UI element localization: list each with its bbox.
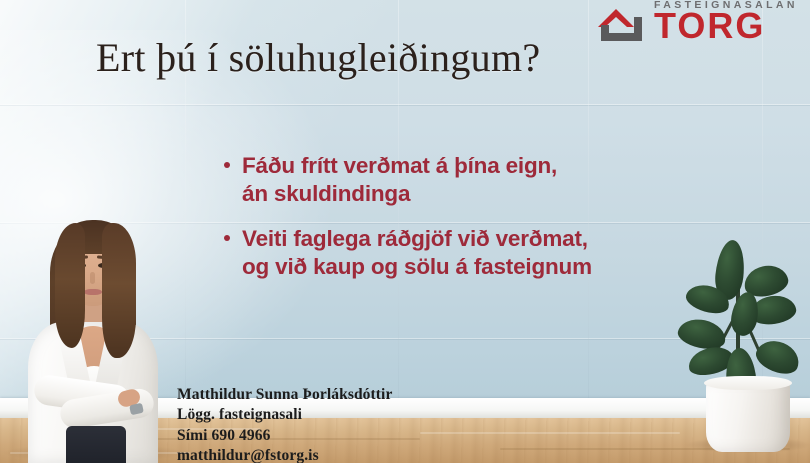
agent-email[interactable]: matthildur@fstorg.is xyxy=(177,446,392,463)
house-roof-icon xyxy=(594,5,652,45)
lips xyxy=(84,289,102,295)
hair-strand-right xyxy=(102,223,136,358)
bullet-dot-icon xyxy=(224,162,230,168)
wall-panel-line xyxy=(0,105,810,106)
plant-leaf xyxy=(752,335,804,379)
list-item: Veiti faglega ráðgjöf við verðmat, og vi… xyxy=(224,225,694,282)
real-estate-ad-poster: FASTEIGNASALAN TORG Ert þú í söluhugleið… xyxy=(0,0,810,463)
agent-name: Matthildur Sunna Þorláksdóttir xyxy=(177,385,392,405)
list-item-line-1: Veiti faglega ráðgjöf við verðmat, xyxy=(224,225,694,253)
agent-phone: Sími 690 4966 xyxy=(177,426,392,446)
dark-trousers xyxy=(66,426,126,463)
list-item: Fáðu frítt verðmat á þína eign, án skuld… xyxy=(224,152,694,209)
torg-logo[interactable]: FASTEIGNASALAN TORG xyxy=(594,0,810,48)
contact-block: Matthildur Sunna Þorláksdóttir Lögg. fas… xyxy=(177,385,392,463)
hair-strand-left xyxy=(55,223,85,348)
plant-pot xyxy=(706,380,790,452)
agent-title: Lögg. fasteignasali xyxy=(177,405,392,425)
benefits-list: Fáðu frítt verðmat á þína eign, án skuld… xyxy=(224,152,694,297)
floor-grain xyxy=(420,432,680,434)
logo-brand-text: TORG xyxy=(654,8,765,44)
plant-pot-rim xyxy=(704,376,792,390)
rubber-plant xyxy=(672,232,810,463)
avatar xyxy=(6,198,178,463)
page-title: Ert þú í söluhugleiðingum? xyxy=(96,34,540,81)
bullet-dot-icon xyxy=(224,235,230,241)
list-item-line-2: án skuldindinga xyxy=(224,180,694,208)
list-item-line-2: og við kaup og sölu á fasteignum xyxy=(224,253,694,281)
list-item-line-1: Fáðu frítt verðmat á þína eign, xyxy=(224,152,694,180)
nose xyxy=(90,272,95,284)
